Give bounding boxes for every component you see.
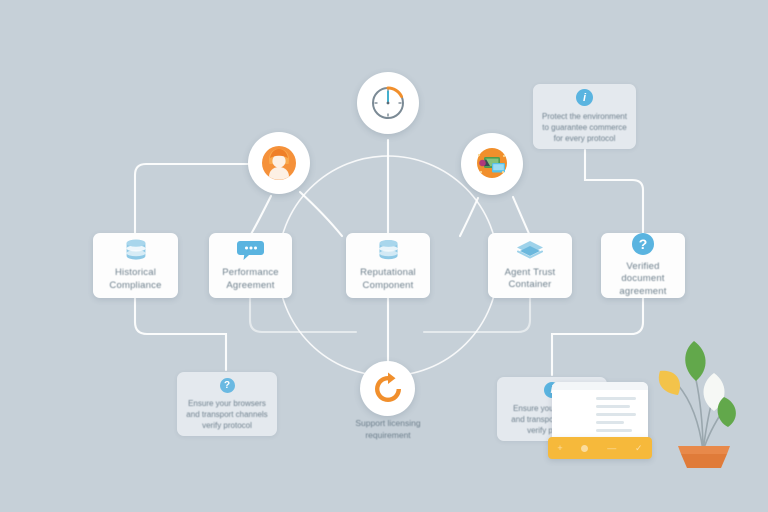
document-lines [596,397,636,432]
document-preview[interactable] [552,382,648,444]
question-mark-icon: ? [632,233,654,255]
plus-icon[interactable]: + [557,443,562,453]
leaf-green-right [718,397,736,427]
minus-icon[interactable]: — [607,443,616,453]
clock-gauge-icon [368,83,408,123]
potted-plant [648,333,758,468]
leaf-green-top [685,341,705,381]
card-caption: Performance Agreement [216,267,285,292]
badge-clock-gauge[interactable] [357,72,419,134]
media-devices-icon [470,142,514,186]
card-caption: Verified document agreement [601,261,685,299]
user-avatar-icon [257,141,301,185]
card-historical-compliance[interactable]: Historical Compliance [93,233,178,298]
badge-media-devices[interactable] [461,133,523,195]
pot-rim [678,446,730,454]
question-circle-icon: ? [220,378,235,393]
document-footer-bar[interactable]: + — ✓ [548,437,652,459]
database-icon [123,239,149,261]
circle-icon[interactable] [581,445,588,452]
leaf-yellow [659,371,680,395]
note-top-right[interactable]: i Protect the environment to guarantee c… [533,84,636,149]
note-bottom-left[interactable]: ? Ensure your browsers and transport cha… [177,372,277,436]
card-caption: Agent Trust Container [499,267,562,292]
badge-sync-caption: Support licensing requirement [330,418,446,441]
refresh-sync-icon [371,372,405,406]
card-reputational-component[interactable]: Reputational Component [346,233,430,298]
badge-user-avatar[interactable] [248,132,310,194]
database-icon [376,239,401,261]
check-icon[interactable]: ✓ [635,443,643,454]
badge-sync-refresh[interactable] [360,361,415,416]
pot-body [681,454,727,468]
chat-bubble-icon [237,239,264,261]
document-header [552,382,648,390]
card-caption: Historical Compliance [103,267,167,292]
note-caption: Protect the environment to guarantee com… [534,111,635,144]
card-caption: Reputational Component [354,267,422,292]
card-verified-document[interactable]: ? Verified document agreement [601,233,685,298]
card-performance-agreement[interactable]: Performance Agreement [209,233,292,298]
layers-icon [516,240,544,261]
card-agent-trust-container[interactable]: Agent Trust Container [488,233,572,298]
info-circle-icon: i [576,89,593,106]
note-caption: Ensure your browsers and transport chann… [178,398,275,431]
diagram-canvas: Historical Compliance Performance Agreem… [0,0,768,512]
